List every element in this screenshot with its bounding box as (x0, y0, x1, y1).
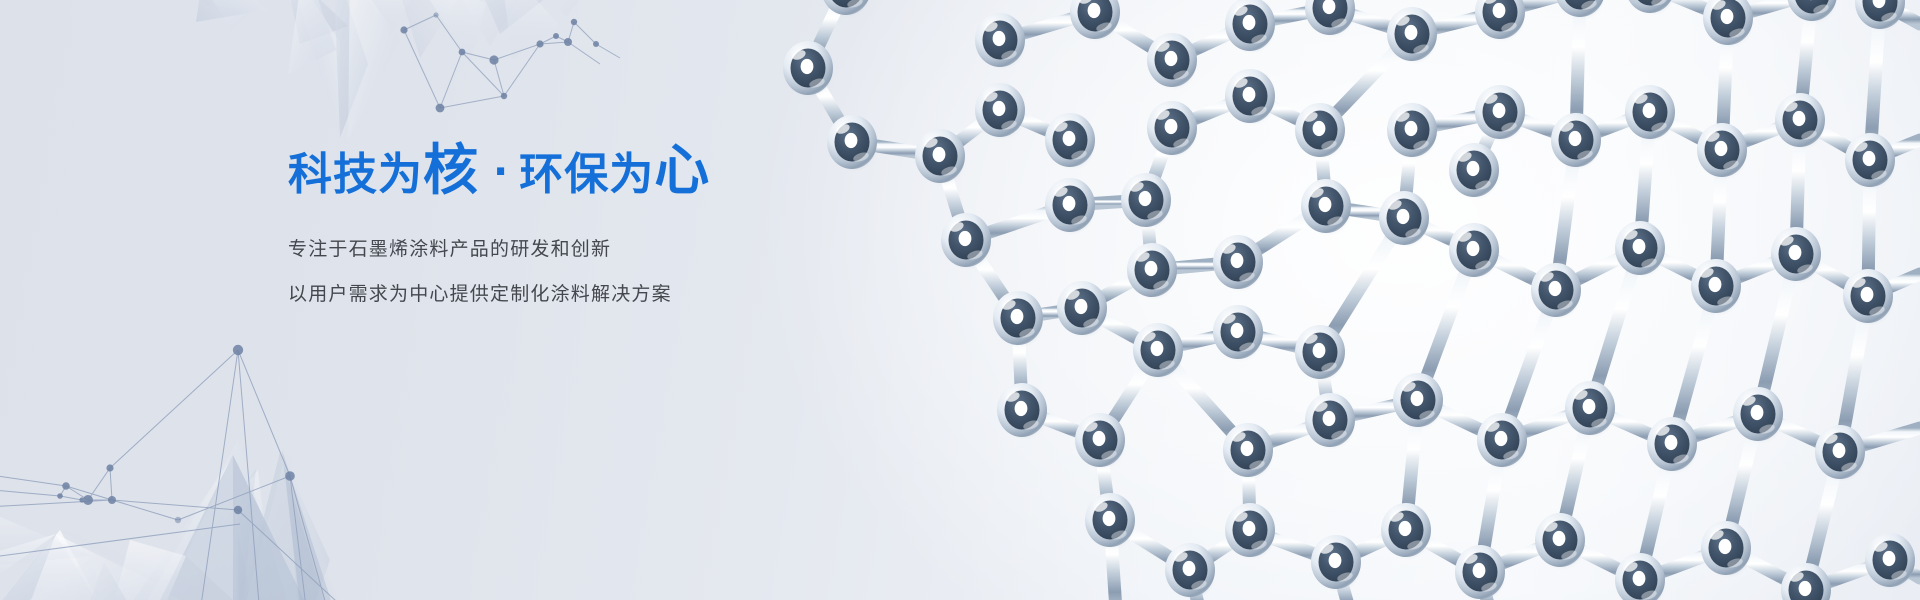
headline-emphasis-core: 核 (423, 146, 479, 196)
banner-content: 科技为 核 · 环保为 心 专注于石墨烯涂料产品的研发和创新 以用户需求为中心提… (0, 0, 1920, 600)
headline-part1: 科技为 (288, 153, 423, 197)
headline-emphasis-heart: 心 (654, 146, 710, 196)
headline-separator-dot: · (479, 152, 519, 192)
subtitle-line-1: 专注于石墨烯涂料产品的研发和创新 (288, 240, 908, 259)
subtitle-line-2: 以用户需求为中心提供定制化涂料解决方案 (288, 285, 908, 304)
hero-text-block: 科技为 核 · 环保为 心 专注于石墨烯涂料产品的研发和创新 以用户需求为中心提… (288, 146, 908, 304)
headline-part2: 环保为 (519, 153, 654, 197)
hero-subtitle: 专注于石墨烯涂料产品的研发和创新 以用户需求为中心提供定制化涂料解决方案 (288, 240, 908, 304)
hero-banner: 科技为 核 · 环保为 心 专注于石墨烯涂料产品的研发和创新 以用户需求为中心提… (0, 0, 1920, 600)
page-title: 科技为 核 · 环保为 心 (288, 146, 908, 197)
